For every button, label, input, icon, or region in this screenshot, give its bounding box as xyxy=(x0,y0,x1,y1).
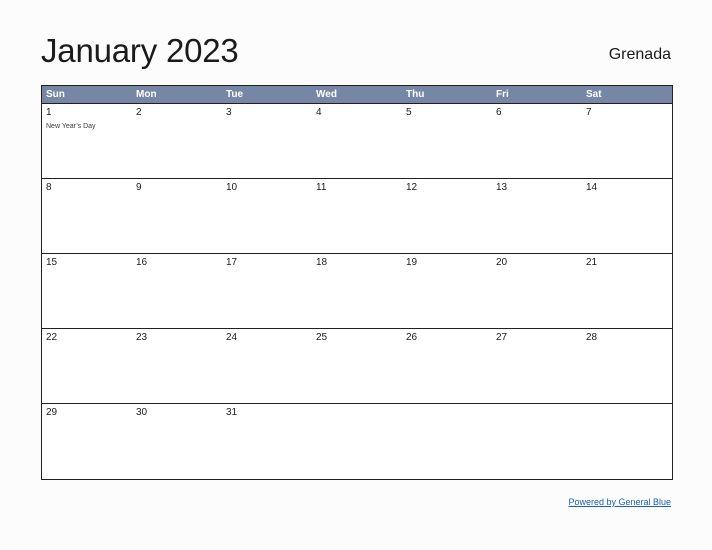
weekday-header-sat: Sat xyxy=(582,86,672,103)
week-row: 8 9 10 11 12 13 14 xyxy=(42,179,672,254)
day-cell[interactable]: 26 xyxy=(402,329,492,403)
week-row: 15 16 17 18 19 20 21 xyxy=(42,254,672,329)
day-number: 25 xyxy=(316,332,398,344)
day-number: 26 xyxy=(406,332,488,344)
day-cell[interactable]: 23 xyxy=(132,329,222,403)
day-number: 7 xyxy=(586,107,668,119)
day-cell[interactable]: 10 xyxy=(222,179,312,253)
day-number: 31 xyxy=(226,407,308,419)
weekday-label: Mon xyxy=(136,89,157,100)
day-number: 11 xyxy=(316,182,398,194)
day-number: 5 xyxy=(406,107,488,119)
calendar-page: January 2023 Grenada Sun Mon Tue Wed Thu… xyxy=(0,0,712,550)
weekday-label: Fri xyxy=(496,89,509,100)
day-number: 23 xyxy=(136,332,218,344)
day-number: 21 xyxy=(586,257,668,269)
day-cell[interactable]: 8 xyxy=(42,179,132,253)
weekday-label: Sat xyxy=(586,89,602,100)
day-number: 15 xyxy=(46,257,128,269)
day-cell[interactable]: 6 xyxy=(492,104,582,178)
day-cell-empty xyxy=(402,404,492,479)
day-cell[interactable]: 31 xyxy=(222,404,312,479)
day-number: 19 xyxy=(406,257,488,269)
day-cell[interactable]: 16 xyxy=(132,254,222,328)
day-number: 8 xyxy=(46,182,128,194)
day-cell-empty xyxy=(312,404,402,479)
weekday-label: Wed xyxy=(316,89,337,100)
page-title: January 2023 xyxy=(41,32,239,70)
day-cell[interactable]: 14 xyxy=(582,179,672,253)
day-number: 13 xyxy=(496,182,578,194)
day-cell[interactable]: 7 xyxy=(582,104,672,178)
day-cell-empty xyxy=(492,404,582,479)
weekday-label: Thu xyxy=(406,89,424,100)
day-cell[interactable]: 13 xyxy=(492,179,582,253)
day-number: 22 xyxy=(46,332,128,344)
day-number: 20 xyxy=(496,257,578,269)
day-number: 12 xyxy=(406,182,488,194)
day-cell[interactable]: 20 xyxy=(492,254,582,328)
weekday-header-fri: Fri xyxy=(492,86,582,103)
weekday-label: Sun xyxy=(46,89,65,100)
weekday-header-tue: Tue xyxy=(222,86,312,103)
day-number: 9 xyxy=(136,182,218,194)
day-cell[interactable]: 1New Year’s Day xyxy=(42,104,132,178)
day-cell[interactable]: 3 xyxy=(222,104,312,178)
day-number: 4 xyxy=(316,107,398,119)
week-row: 1New Year’s Day 2 3 4 5 6 7 xyxy=(42,104,672,179)
day-number: 6 xyxy=(496,107,578,119)
day-number: 24 xyxy=(226,332,308,344)
day-number: 10 xyxy=(226,182,308,194)
day-cell[interactable]: 17 xyxy=(222,254,312,328)
day-number: 17 xyxy=(226,257,308,269)
day-number: 14 xyxy=(586,182,668,194)
weekday-header-row: Sun Mon Tue Wed Thu Fri Sat xyxy=(42,85,672,104)
day-cell[interactable]: 28 xyxy=(582,329,672,403)
day-number: 2 xyxy=(136,107,218,119)
day-cell-empty xyxy=(582,404,672,479)
day-cell[interactable]: 15 xyxy=(42,254,132,328)
day-number: 18 xyxy=(316,257,398,269)
day-number: 1 xyxy=(46,107,128,119)
day-cell[interactable]: 29 xyxy=(42,404,132,479)
weekday-header-thu: Thu xyxy=(402,86,492,103)
weekday-header-mon: Mon xyxy=(132,86,222,103)
page-footer: Powered by General Blue xyxy=(41,492,671,510)
day-number: 28 xyxy=(586,332,668,344)
day-cell[interactable]: 5 xyxy=(402,104,492,178)
day-cell[interactable]: 30 xyxy=(132,404,222,479)
week-row: 22 23 24 25 26 27 28 xyxy=(42,329,672,404)
weekday-header-sun: Sun xyxy=(42,86,132,103)
country-label: Grenada xyxy=(609,44,671,70)
day-number: 27 xyxy=(496,332,578,344)
day-number: 29 xyxy=(46,407,128,419)
day-cell[interactable]: 24 xyxy=(222,329,312,403)
day-cell[interactable]: 22 xyxy=(42,329,132,403)
day-cell[interactable]: 27 xyxy=(492,329,582,403)
day-cell[interactable]: 21 xyxy=(582,254,672,328)
day-cell[interactable]: 9 xyxy=(132,179,222,253)
day-cell[interactable]: 12 xyxy=(402,179,492,253)
day-cell[interactable]: 2 xyxy=(132,104,222,178)
day-cell[interactable]: 18 xyxy=(312,254,402,328)
week-row: 29 30 31 xyxy=(42,404,672,479)
day-number: 30 xyxy=(136,407,218,419)
day-cell[interactable]: 11 xyxy=(312,179,402,253)
day-cell[interactable]: 25 xyxy=(312,329,402,403)
day-event: New Year’s Day xyxy=(46,122,128,132)
calendar-grid: Sun Mon Tue Wed Thu Fri Sat 1New Year’s … xyxy=(41,85,673,480)
weekday-label: Tue xyxy=(226,89,243,100)
powered-by-link[interactable]: Powered by General Blue xyxy=(568,497,671,507)
day-cell[interactable]: 4 xyxy=(312,104,402,178)
day-number: 16 xyxy=(136,257,218,269)
day-number: 3 xyxy=(226,107,308,119)
page-header: January 2023 Grenada xyxy=(41,26,671,70)
day-cell[interactable]: 19 xyxy=(402,254,492,328)
weekday-header-wed: Wed xyxy=(312,86,402,103)
